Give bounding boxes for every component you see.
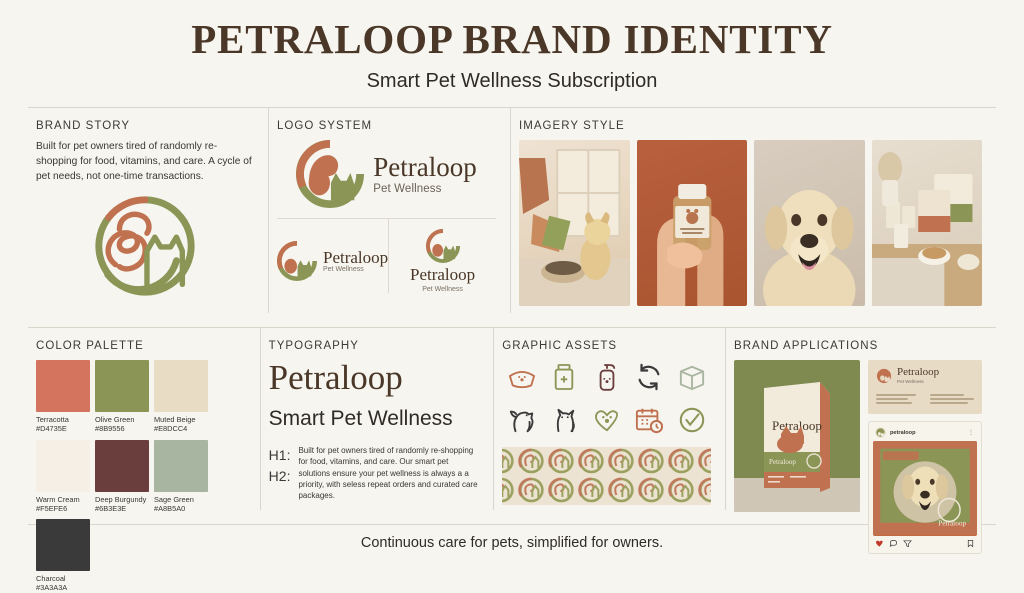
product-bag-mockup: Petraloop Petraloop [734, 360, 860, 512]
swatch-hex: #8B9556 [95, 424, 149, 433]
typography-body-sample: Built for pet owners tired of randomly r… [298, 445, 479, 502]
swatch-hex: #3A3A3A [36, 583, 90, 592]
swatch-hex: #F5EFE6 [36, 504, 90, 513]
page-title: PETRALOOP BRAND IDENTITY [0, 18, 1024, 61]
swatch: Terracotta #D4735E [36, 360, 90, 434]
social-post-header: petraloop ⋮ [873, 426, 977, 441]
bottom-row: COLOR PALETTE Terracotta #D4735E Olive G… [0, 328, 1024, 510]
business-card-details [876, 394, 974, 404]
typography-label-h2: H2: [269, 466, 291, 487]
social-post-handle: petraloop [890, 430, 915, 436]
brand-story-body: Built for pet owners tired of randomly r… [36, 140, 254, 184]
feeding-scene-illustration [519, 140, 630, 306]
social-post-actions [873, 536, 977, 549]
social-post-image: Petraloop [873, 441, 977, 535]
typography-title: TYPOGRAPHY [269, 340, 480, 352]
logo-variant-horizontal: Petraloop Pet Wellness [277, 219, 388, 293]
graphic-assets-title: GRAPHIC ASSETS [502, 340, 711, 352]
swatch-chip [36, 519, 90, 571]
like-icon[interactable] [875, 539, 884, 548]
more-options-icon[interactable]: ⋮ [968, 429, 975, 436]
business-card-header: Petraloop Pet Wellness [876, 367, 974, 384]
swatch: Deep Burgundy #6B3E3E [95, 440, 149, 514]
panel-brand-story: BRAND STORY Built for pet owners tired o… [28, 108, 268, 313]
applications-right-column: Petraloop Pet Wellness [868, 360, 982, 553]
bag-wordmark: Petraloop [772, 418, 822, 433]
panel-imagery-style: IMAGERY STYLE [510, 108, 996, 313]
check-circle-icon [672, 403, 711, 437]
business-card-detail-col [876, 394, 916, 404]
share-icon[interactable] [903, 539, 912, 548]
applications-wrap: Petraloop Petraloop [734, 360, 982, 553]
primary-logo-tagline: Pet Wellness [373, 183, 476, 195]
product-flatlay-illustration [872, 140, 983, 306]
swatch: Charcoal #3A3A3A [36, 519, 90, 593]
icon-grid [502, 360, 711, 437]
panel-graphic-assets: GRAPHIC ASSETS [493, 328, 725, 510]
food-bowl-icon [502, 360, 541, 394]
typography-label-h1: H1: [269, 445, 291, 466]
detail-line [930, 398, 974, 400]
page-subtitle: Smart Pet Wellness Subscription [0, 70, 1024, 93]
panel-typography: TYPOGRAPHY Petraloop Smart Pet Wellness … [260, 328, 494, 510]
shipping-box-icon [672, 360, 711, 394]
calendar-clock-icon [630, 403, 669, 437]
typography-heading-sample: Smart Pet Wellness [269, 407, 480, 431]
logo-variant-tagline: Pet Wellness [422, 286, 463, 293]
swatch: Muted Beige #E8DCC4 [154, 360, 208, 434]
comment-icon[interactable] [889, 539, 898, 548]
social-post-mockup[interactable]: petraloop ⋮ [868, 421, 982, 553]
primary-logo-wordmark: Petraloop [373, 154, 476, 181]
swatch-name: Muted Beige [154, 415, 208, 424]
swatch-name: Terracotta [36, 415, 90, 424]
bag-panel-label: Petraloop [769, 458, 796, 466]
typography-display-sample: Petraloop [269, 360, 480, 397]
imagery-photo-dog-portrait [754, 140, 865, 306]
pattern-tile [502, 447, 711, 505]
primary-logo: Petraloop Pet Wellness [277, 140, 496, 208]
brand-story-logo-mark [36, 190, 254, 302]
swatch-hex: #E8DCC4 [154, 424, 208, 433]
imagery-style-title: IMAGERY STYLE [519, 120, 982, 132]
swatch-chip [154, 360, 208, 412]
social-post-overlay-wordmark: Petraloop [938, 518, 966, 527]
swatch-name: Olive Green [95, 415, 149, 424]
business-card-detail-col [930, 394, 974, 404]
hand-holding-jar-illustration [637, 140, 748, 306]
typography-level-labels: H1: H2: [269, 445, 291, 502]
typography-body-row: H1: H2: Built for pet owners tired of ra… [269, 445, 480, 502]
social-post-artwork: Petraloop [873, 441, 977, 535]
loop-monogram-icon [86, 190, 204, 302]
top-row: BRAND STORY Built for pet owners tired o… [0, 108, 1024, 313]
heart-paw-icon [587, 403, 626, 437]
swatch-name: Sage Green [154, 495, 208, 504]
swatch-chip [36, 360, 90, 412]
business-card-wordmark: Petraloop [897, 367, 939, 378]
page-header: PETRALOOP BRAND IDENTITY Smart Pet Welln… [0, 0, 1024, 93]
swatch-name: Deep Burgundy [95, 495, 149, 504]
logo-badge-icon [277, 241, 317, 281]
business-card-tagline: Pet Wellness [897, 379, 939, 384]
bag-illustration: Petraloop Petraloop [734, 360, 860, 512]
logo-variant-wordmark: Petraloop [410, 266, 475, 283]
business-card-mockup: Petraloop Pet Wellness [868, 360, 982, 414]
detail-line [876, 402, 912, 404]
detail-line [876, 398, 908, 400]
swatch-chip [36, 440, 90, 492]
labrador-portrait-illustration [754, 140, 865, 306]
dog-sitting-icon [502, 403, 541, 437]
swatch-hex: #6B3E3E [95, 504, 149, 513]
detail-line [876, 394, 916, 396]
logo-variant-stacked: Petraloop Pet Wellness [388, 219, 496, 293]
imagery-photo-supplement [637, 140, 748, 306]
brand-applications-title: BRAND APPLICATIONS [734, 340, 982, 352]
swatch: Olive Green #8B9556 [95, 360, 149, 434]
panel-brand-applications: BRAND APPLICATIONS Petraloop Petraloop [725, 328, 996, 510]
logo-badge-icon [876, 368, 892, 384]
cat-sitting-icon [545, 403, 584, 437]
logo-variant-tagline: Pet Wellness [323, 266, 388, 273]
swatch-hex: #A8B5A0 [154, 504, 208, 513]
panel-color-palette: COLOR PALETTE Terracotta #D4735E Olive G… [28, 328, 260, 510]
imagery-strip [519, 140, 982, 306]
logo-variants: Petraloop Pet Wellness Petraloop Pet W [277, 218, 496, 293]
swatch-hex: #D4735E [36, 424, 90, 433]
avatar [875, 427, 886, 438]
swatch: Sage Green #A8B5A0 [154, 440, 208, 514]
color-palette-title: COLOR PALETTE [36, 340, 246, 352]
logo-badge-icon [296, 140, 364, 208]
brand-pattern-band [502, 447, 711, 505]
imagery-photo-feeding [519, 140, 630, 306]
logo-variant-wordmark: Petraloop [323, 249, 388, 266]
subscription-refresh-icon [630, 360, 669, 394]
logo-system-title: LOGO SYSTEM [277, 120, 496, 132]
supplement-bottle-icon [545, 360, 584, 394]
bookmark-icon[interactable] [966, 539, 975, 548]
shampoo-pump-icon [587, 360, 626, 394]
swatch-grid: Terracotta #D4735E Olive Green #8B9556 M… [36, 360, 246, 593]
swatch-name: Warm Cream [36, 495, 90, 504]
logo-badge-icon [426, 229, 460, 263]
imagery-photo-flatlay [872, 140, 983, 306]
brand-story-title: BRAND STORY [36, 120, 254, 132]
detail-line [930, 402, 968, 404]
swatch-chip [154, 440, 208, 492]
swatch-chip [95, 440, 149, 492]
panel-logo-system: LOGO SYSTEM Petraloop Pet Wellness [268, 108, 510, 313]
swatch-chip [95, 360, 149, 412]
brand-identity-sheet: PETRALOOP BRAND IDENTITY Smart Pet Welln… [0, 0, 1024, 572]
swatch: Warm Cream #F5EFE6 [36, 440, 90, 514]
detail-line [930, 394, 964, 396]
swatch-name: Charcoal [36, 574, 90, 583]
